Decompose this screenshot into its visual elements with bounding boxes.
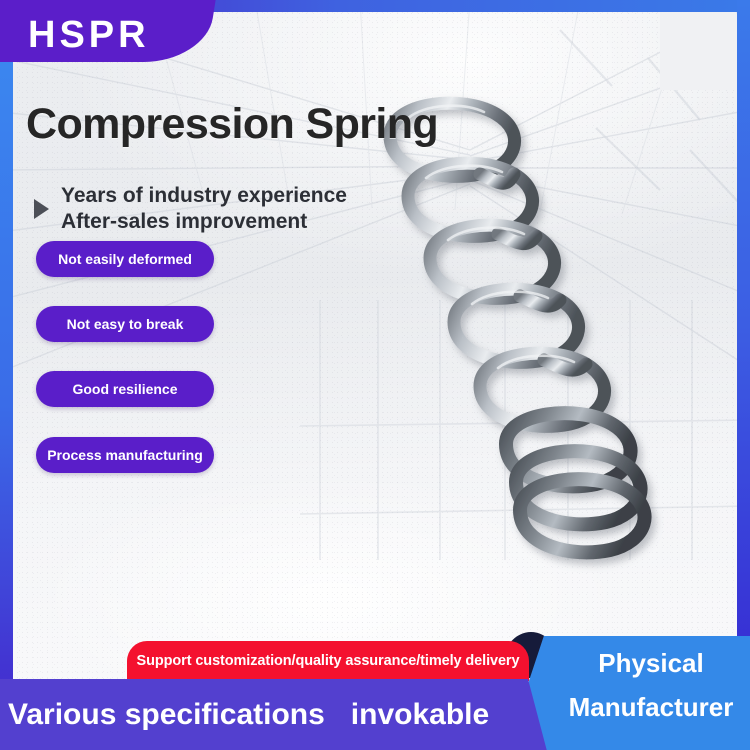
tagline-right: invokable	[351, 698, 489, 732]
compression-spring-image	[330, 78, 710, 598]
left-accent-strip	[0, 61, 13, 686]
manufacturer-line-2: Manufacturer	[552, 685, 750, 729]
manufacturer-panel-text: Physical Manufacturer	[552, 641, 750, 729]
tagline-bar-text: Various specifications invokable	[8, 679, 528, 750]
selling-points: Years of industry experience After-sales…	[34, 183, 347, 235]
feature-pill-not-easy-to-break: Not easy to break	[36, 306, 214, 342]
feature-pill-good-resilience: Good resilience	[36, 371, 214, 407]
manufacturer-line-1: Physical	[552, 641, 750, 685]
right-accent-strip	[737, 0, 750, 648]
brand-name: HSPR	[28, 10, 198, 60]
product-banner: HSPR Compression Spring Years of industr…	[0, 0, 750, 750]
feature-pill-not-easily-deformed: Not easily deformed	[36, 241, 214, 277]
selling-point-line-2: After-sales improvement	[61, 209, 347, 235]
page-title: Compression Spring	[26, 100, 438, 149]
service-promise-banner: Support customization/quality assurance/…	[127, 641, 529, 681]
selling-point-line-1: Years of industry experience	[61, 183, 347, 209]
triangle-right-icon	[34, 199, 49, 219]
feature-pill-process-manufacturing: Process manufacturing	[36, 437, 214, 473]
tagline-left: Various specifications	[8, 698, 325, 732]
